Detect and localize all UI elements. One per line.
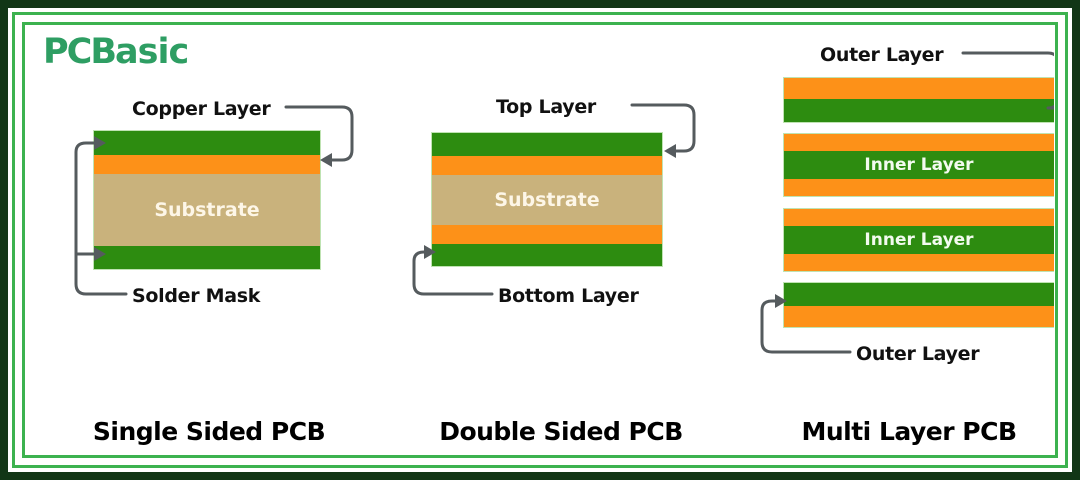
arrowhead-outer-bottom [775,294,787,308]
caption-single-sided: Single Sided PCB [34,417,384,446]
caption-double-sided: Double Sided PCB [386,417,736,446]
arrowhead-copper-layer [320,153,332,167]
arrowhead-top-layer [664,144,676,158]
single-sided-arrows [34,26,384,454]
arrow-bottom-layer [414,252,492,294]
multi-layer-pcb-column: Outer Layer Inner Layer Inner Layer [738,26,1054,454]
arrow-copper-layer [286,107,352,160]
arrowhead-bottom-layer [424,245,436,259]
double-sided-pcb-column: Top Layer Substrate Bottom Layer Double … [386,26,736,454]
arrowhead-solder-mask-top [94,136,106,150]
caption-multi-layer: Multi Layer PCB [738,417,1054,446]
poster-frame-outer: PCBasic Copper Layer Substrate Solder Ma… [0,0,1080,480]
diagram-canvas: PCBasic Copper Layer Substrate Solder Ma… [26,26,1054,454]
double-sided-arrows [386,26,736,454]
arrow-solder-mask-top [76,143,126,294]
arrow-outer-top [963,53,1054,108]
arrow-outer-bottom [762,301,850,352]
arrowhead-solder-mask-bottom [94,247,106,261]
arrow-top-layer [632,105,694,151]
arrowhead-outer-top [1052,101,1054,115]
single-sided-pcb-column: Copper Layer Substrate Solder Mask Singl… [34,26,384,454]
multi-layer-arrows [738,26,1054,454]
